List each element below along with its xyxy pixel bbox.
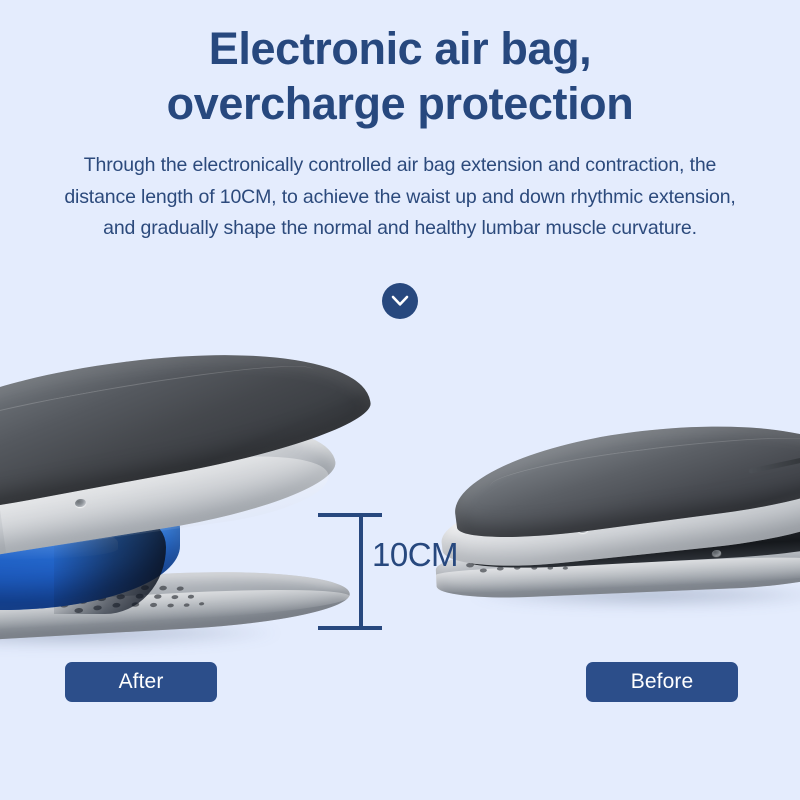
dimension-line <box>359 513 363 630</box>
dimension-annotation: 10CM <box>318 508 468 640</box>
dimension-label: 10CM <box>372 536 458 574</box>
dimension-cap-bottom <box>318 626 382 630</box>
before-button[interactable]: Before <box>586 662 738 702</box>
after-button[interactable]: After <box>65 662 217 702</box>
dimension-cap-top <box>318 513 382 517</box>
headline-line-2: overcharge protection <box>0 77 800 132</box>
description-paragraph: Through the electronically controlled ai… <box>50 150 750 245</box>
headline-line-1: Electronic air bag, <box>0 22 800 77</box>
product-feature-page: Electronic air bag, overcharge protectio… <box>0 0 800 800</box>
product-device-before <box>430 406 800 626</box>
page-title: Electronic air bag, overcharge protectio… <box>0 22 800 132</box>
chevron-down-icon[interactable] <box>382 283 418 319</box>
